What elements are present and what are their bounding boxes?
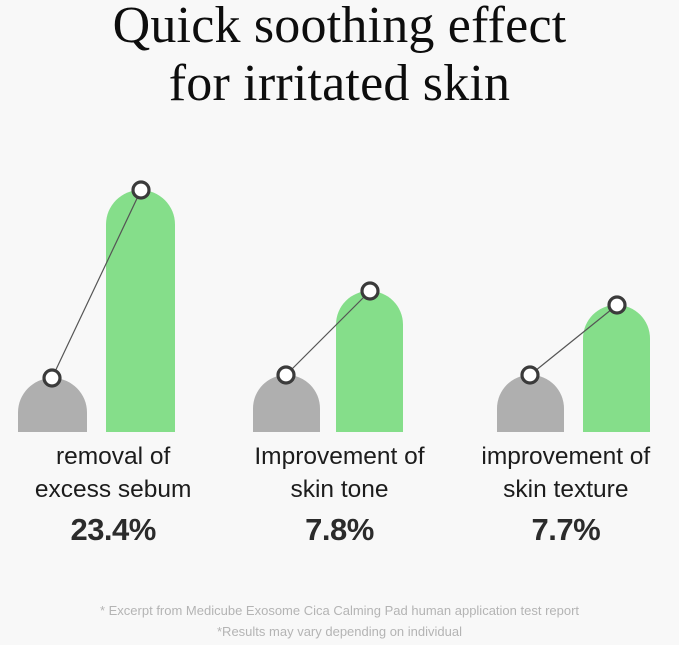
chart-labels-row: removal of excess sebum 23.4% Improvemen…	[0, 440, 679, 560]
value-group-2: 7.8%	[226, 508, 452, 552]
label-group-2: Improvement of skin tone 7.8%	[226, 440, 452, 560]
label-group-3-line-1: improvement of	[453, 440, 679, 473]
label-group-3-line-2: skin texture	[453, 473, 679, 506]
marker-after-group-3	[609, 297, 625, 313]
label-group-1-line-2: excess sebum	[0, 473, 226, 506]
bar-after-group-1	[106, 190, 175, 432]
footnote-line-1: * Excerpt from Medicube Exosome Cica Cal…	[0, 600, 679, 621]
marker-before-group-1	[44, 370, 60, 386]
marker-before-group-3	[522, 367, 538, 383]
footnote: * Excerpt from Medicube Exosome Cica Cal…	[0, 600, 679, 642]
label-group-2-line-1: Improvement of	[226, 440, 452, 473]
title-line-2: for irritated skin	[0, 54, 679, 114]
label-group-1: removal of excess sebum 23.4%	[0, 440, 226, 560]
infographic-page: Quick soothing effect for irritated skin	[0, 0, 679, 645]
footnote-line-2: *Results may vary depending on individua…	[0, 621, 679, 642]
label-group-3: improvement of skin texture 7.7%	[453, 440, 679, 560]
label-group-1-line-1: removal of	[0, 440, 226, 473]
value-group-3: 7.7%	[453, 508, 679, 552]
title-line-1: Quick soothing effect	[0, 0, 679, 56]
bar-after-group-2	[336, 291, 403, 432]
marker-after-group-1	[133, 182, 149, 198]
chart-svg	[0, 160, 679, 435]
marker-before-group-2	[278, 367, 294, 383]
label-group-2-line-2: skin tone	[226, 473, 452, 506]
before-after-bar-chart	[0, 160, 679, 435]
page-title: Quick soothing effect for irritated skin	[0, 0, 679, 114]
marker-after-group-2	[362, 283, 378, 299]
value-group-1: 23.4%	[0, 508, 226, 552]
